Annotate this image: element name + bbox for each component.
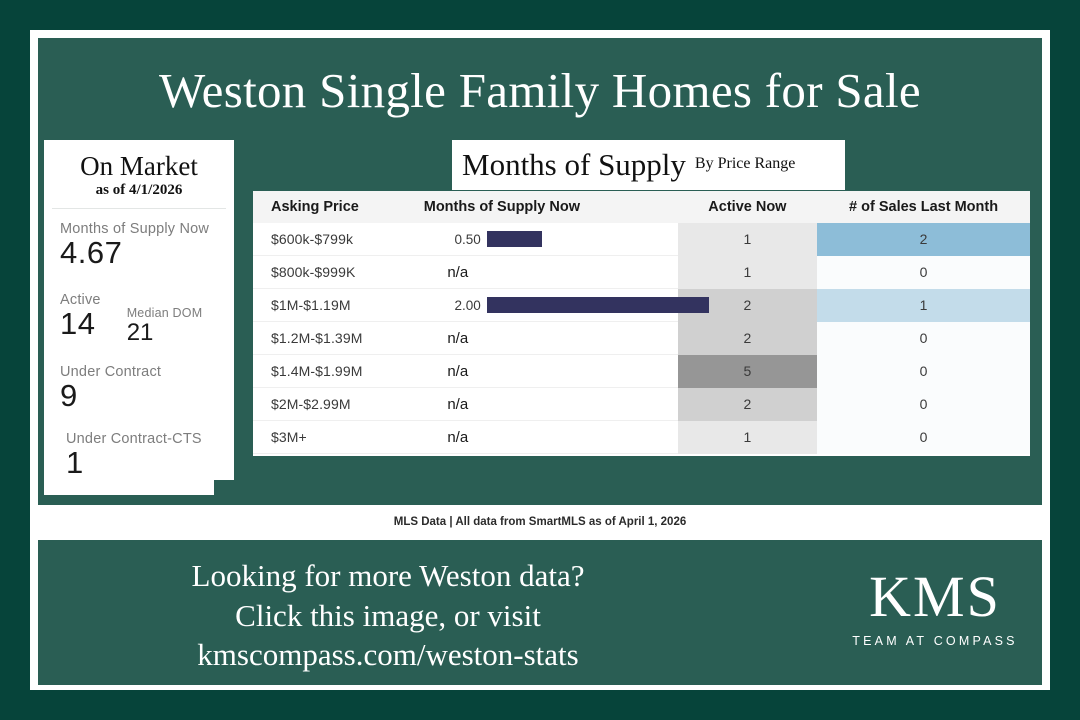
logo-tagline: TEAM AT COMPASS bbox=[828, 634, 1042, 648]
cell-months-supply: 2.00 bbox=[406, 289, 678, 322]
cell-asking-price: $600k-$799k bbox=[253, 223, 406, 256]
cta-line-2: Click this image, or visit bbox=[38, 596, 738, 636]
table-row: $1.2M-$1.39Mn/a20 bbox=[253, 322, 1030, 355]
supply-value: 2.00 bbox=[406, 298, 481, 313]
cell-sales-last-month: 0 bbox=[817, 355, 1030, 388]
cell-active-now: 2 bbox=[678, 388, 818, 421]
on-market-divider bbox=[52, 208, 226, 209]
cell-asking-price: $1.2M-$1.39M bbox=[253, 322, 406, 355]
page-title: Weston Single Family Homes for Sale bbox=[38, 62, 1042, 119]
card-corner-notch bbox=[214, 480, 234, 495]
stat-active-and-dom: Active 14 Median DOM 21 bbox=[44, 292, 234, 346]
supply-na-label: n/a bbox=[406, 363, 510, 380]
under-contract-cts-label: Under Contract-CTS bbox=[66, 431, 234, 447]
cell-sales-last-month: 2 bbox=[817, 223, 1030, 256]
supply-subtitle: By Price Range bbox=[695, 155, 795, 176]
kms-logo: KMS TEAM AT COMPASS bbox=[828, 568, 1042, 648]
cell-months-supply: n/a bbox=[406, 256, 678, 289]
table-row: $3M+n/a10 bbox=[253, 421, 1030, 454]
supply-table-panel: Asking Price Months of Supply Now Active… bbox=[253, 191, 1030, 456]
under-contract-value: 9 bbox=[60, 380, 234, 413]
cell-active-now: 2 bbox=[678, 322, 818, 355]
supply-na-label: n/a bbox=[406, 330, 510, 347]
cell-asking-price: $2M-$2.99M bbox=[253, 388, 406, 421]
cell-months-supply: n/a bbox=[406, 322, 678, 355]
table-body: $600k-$799k0.5012$800k-$999Kn/a10$1M-$1.… bbox=[253, 223, 1030, 454]
col-header-active-now: Active Now bbox=[678, 191, 818, 223]
col-header-asking-price: Asking Price bbox=[253, 191, 406, 223]
cell-asking-price: $1M-$1.19M bbox=[253, 289, 406, 322]
logo-wordmark: KMS bbox=[828, 568, 1042, 626]
mls-attribution-strip: MLS Data | All data from SmartMLS as of … bbox=[38, 505, 1042, 538]
cell-months-supply: n/a bbox=[406, 421, 678, 454]
cta-block[interactable]: Looking for more Weston data? Click this… bbox=[38, 556, 738, 675]
bottom-green-panel: Looking for more Weston data? Click this… bbox=[38, 540, 1042, 685]
on-market-subtitle: as of 4/1/2026 bbox=[44, 182, 234, 199]
supply-bar bbox=[487, 231, 543, 247]
cell-active-now: 1 bbox=[678, 256, 818, 289]
stat-under-contract: Under Contract 9 bbox=[44, 364, 234, 413]
cell-asking-price: $800k-$999K bbox=[253, 256, 406, 289]
under-contract-label: Under Contract bbox=[60, 364, 234, 380]
on-market-card: On Market as of 4/1/2026 Months of Suppl… bbox=[44, 140, 234, 495]
cta-link[interactable]: kmscompass.com/weston-stats bbox=[38, 635, 738, 675]
cell-asking-price: $1.4M-$1.99M bbox=[253, 355, 406, 388]
table-head: Asking Price Months of Supply Now Active… bbox=[253, 191, 1030, 223]
table-header-row: Asking Price Months of Supply Now Active… bbox=[253, 191, 1030, 223]
stat-under-contract-cts: Under Contract-CTS 1 bbox=[44, 431, 234, 480]
median-dom-label: Median DOM bbox=[127, 306, 203, 320]
cell-asking-price: $3M+ bbox=[253, 421, 406, 454]
active-value: 14 bbox=[60, 308, 101, 341]
supply-na-label: n/a bbox=[406, 429, 510, 446]
table-row: $1.4M-$1.99Mn/a50 bbox=[253, 355, 1030, 388]
table-row: $1M-$1.19M2.0021 bbox=[253, 289, 1030, 322]
stat-months-of-supply: Months of Supply Now 4.67 bbox=[44, 221, 234, 270]
cell-active-now: 1 bbox=[678, 421, 818, 454]
stat-median-dom: Median DOM 21 bbox=[127, 292, 203, 346]
on-market-header: On Market as of 4/1/2026 bbox=[44, 140, 234, 199]
cell-active-now: 1 bbox=[678, 223, 818, 256]
supply-title-box: Months of Supply By Price Range bbox=[452, 140, 845, 190]
table-row: $2M-$2.99Mn/a20 bbox=[253, 388, 1030, 421]
months-of-supply-value: 4.67 bbox=[60, 237, 234, 270]
supply-na-label: n/a bbox=[406, 396, 510, 413]
supply-table: Asking Price Months of Supply Now Active… bbox=[253, 191, 1030, 454]
cell-months-supply: n/a bbox=[406, 355, 678, 388]
cell-sales-last-month: 0 bbox=[817, 256, 1030, 289]
supply-title: Months of Supply bbox=[462, 147, 686, 183]
table-row: $800k-$999Kn/a10 bbox=[253, 256, 1030, 289]
cta-line-1: Looking for more Weston data? bbox=[38, 556, 738, 596]
col-header-months-supply: Months of Supply Now bbox=[406, 191, 678, 223]
col-header-sales: # of Sales Last Month bbox=[817, 191, 1030, 223]
stat-active: Active 14 bbox=[60, 292, 101, 346]
supply-value: 0.50 bbox=[406, 232, 481, 247]
table-row: $600k-$799k0.5012 bbox=[253, 223, 1030, 256]
supply-na-label: n/a bbox=[406, 264, 510, 281]
cell-sales-last-month: 0 bbox=[817, 322, 1030, 355]
supply-bar bbox=[487, 297, 709, 313]
mls-note: MLS Data | All data from SmartMLS as of … bbox=[394, 516, 687, 528]
cell-months-supply: n/a bbox=[406, 388, 678, 421]
cell-sales-last-month: 0 bbox=[817, 421, 1030, 454]
under-contract-cts-value: 1 bbox=[66, 447, 234, 480]
cell-active-now: 5 bbox=[678, 355, 818, 388]
cell-sales-last-month: 1 bbox=[817, 289, 1030, 322]
cell-months-supply: 0.50 bbox=[406, 223, 678, 256]
cell-sales-last-month: 0 bbox=[817, 388, 1030, 421]
on-market-title: On Market bbox=[44, 152, 234, 180]
median-dom-value: 21 bbox=[127, 320, 203, 346]
